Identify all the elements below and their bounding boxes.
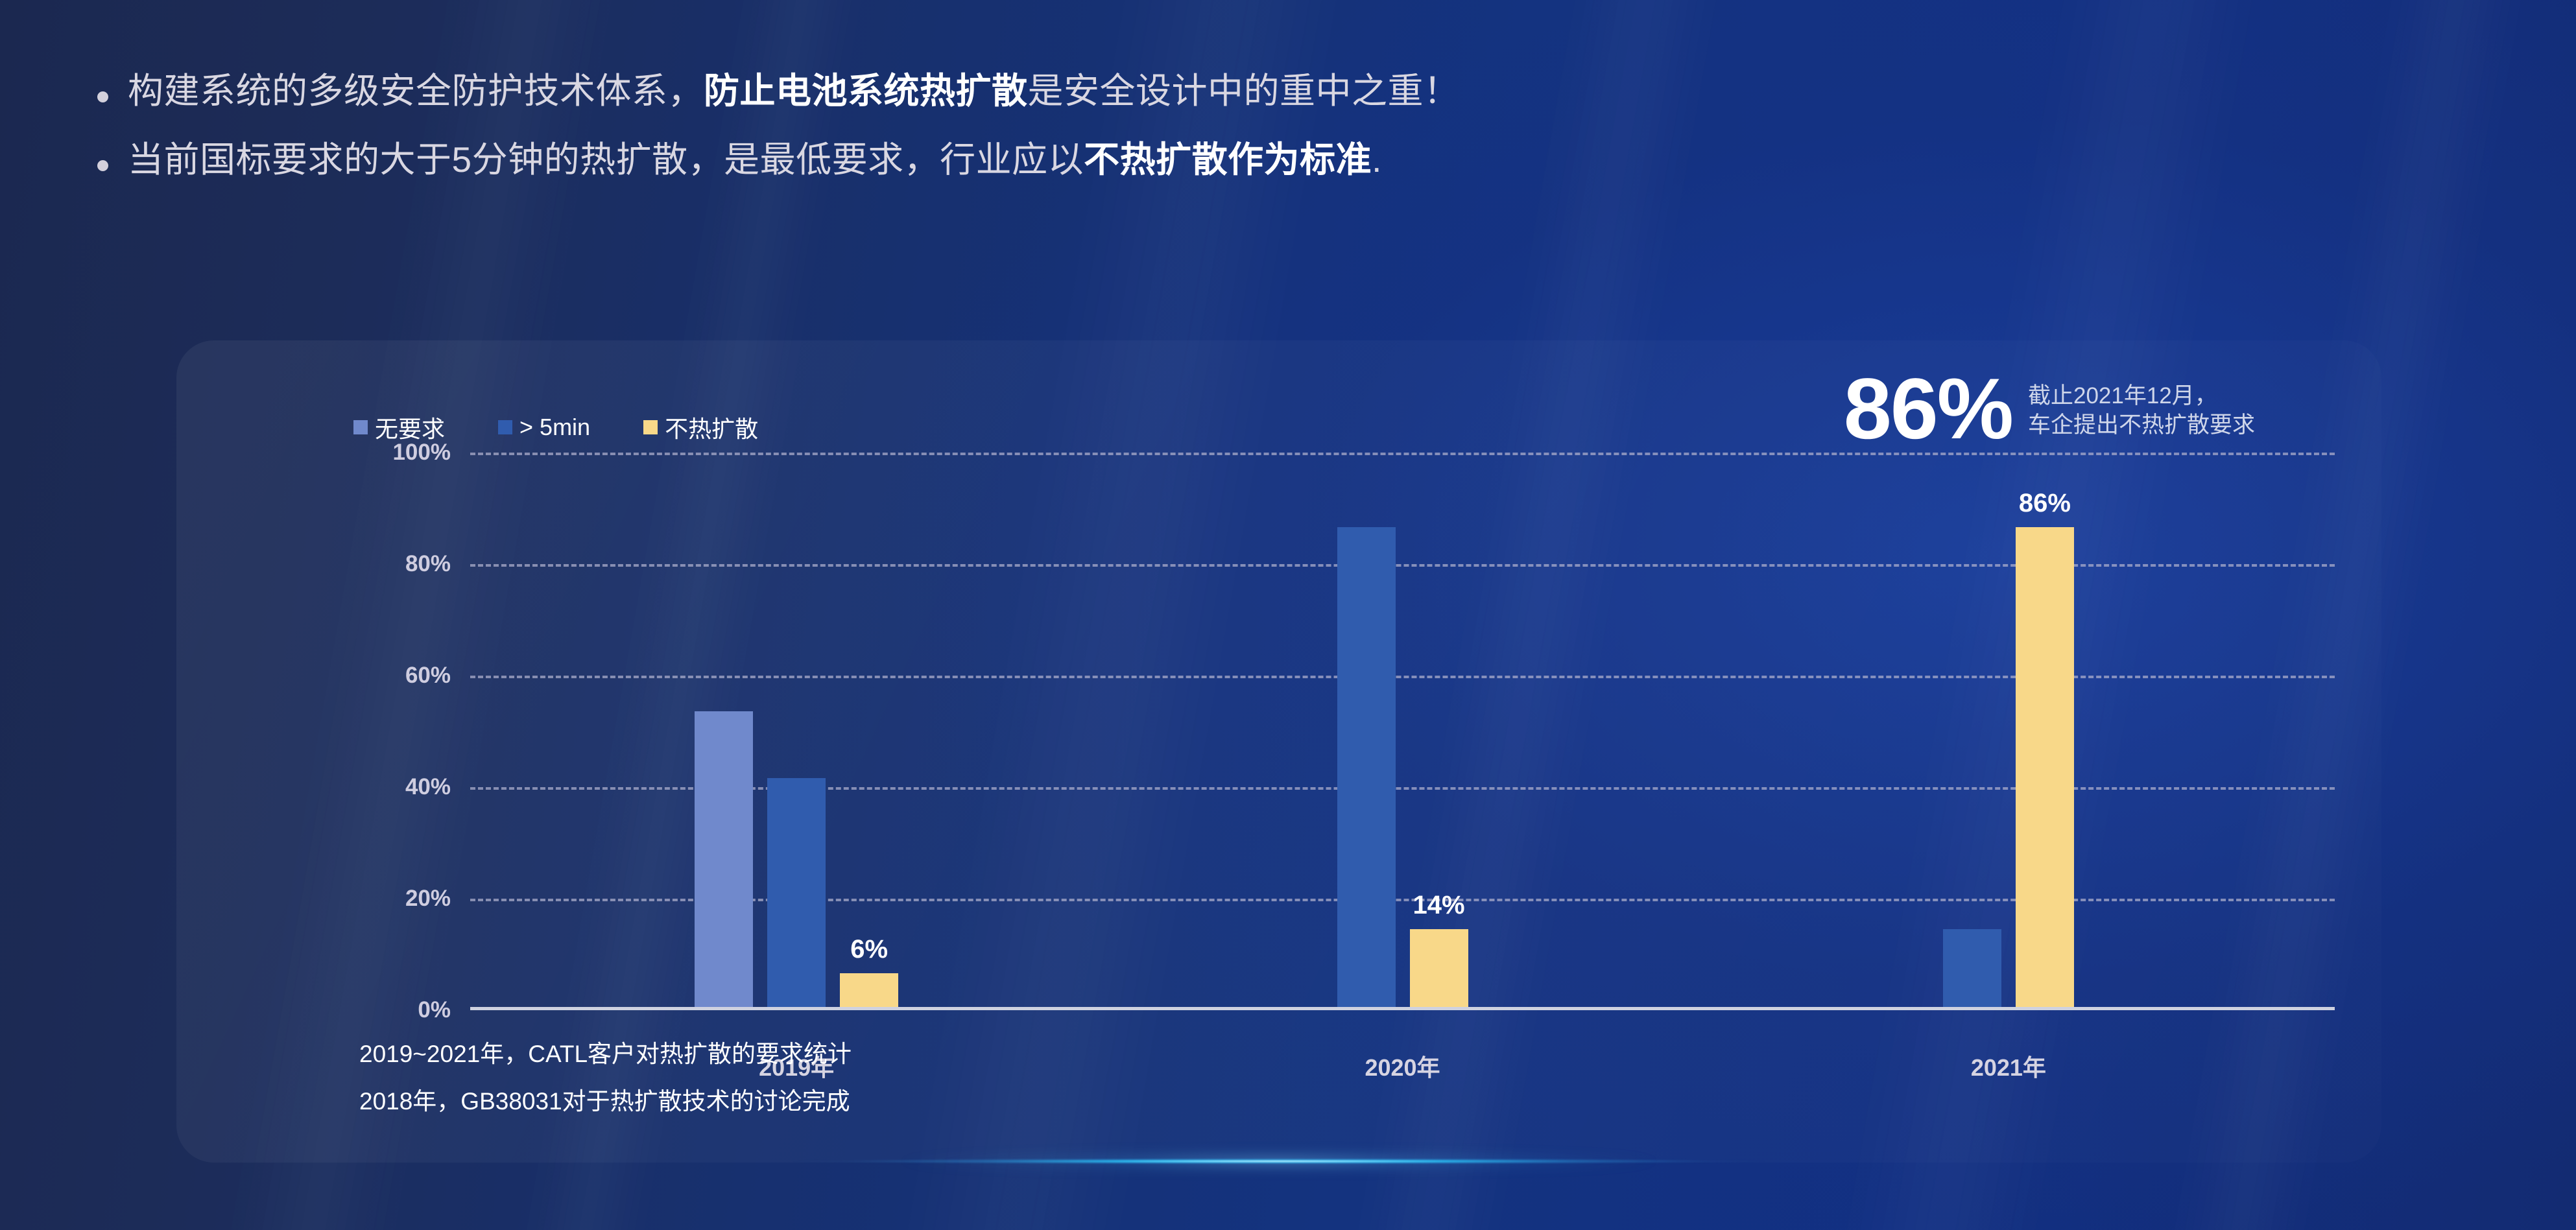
bar[interactable] bbox=[695, 711, 753, 1007]
bullet-text-emphasis: 不热扩散作为标准 bbox=[1084, 139, 1372, 180]
bar[interactable] bbox=[767, 778, 826, 1007]
bar[interactable]: 6% bbox=[840, 973, 898, 1007]
y-axis-tick-label: 80% bbox=[405, 551, 451, 577]
y-axis-tick-label: 100% bbox=[392, 440, 451, 466]
legend-item-gt-5min[interactable]: > 5min bbox=[498, 414, 590, 441]
y-axis-tick-label: 40% bbox=[405, 774, 451, 800]
y-axis-tick-label: 20% bbox=[405, 886, 451, 912]
bar-fill bbox=[695, 711, 753, 1007]
x-axis-tick-label: 2021年 bbox=[1971, 1049, 2046, 1083]
y-axis-tick-label: 60% bbox=[405, 663, 451, 689]
slide: 构建系统的多级安全防护技术体系，防止电池系统热扩散是安全设计中的重中之重！ 当前… bbox=[0, 0, 2576, 1230]
bullet-text: 构建系统的多级安全防护技术体系，防止电池系统热扩散是安全设计中的重中之重！ bbox=[128, 68, 1460, 113]
legend-swatch-icon bbox=[353, 420, 368, 434]
bar-fill bbox=[2016, 527, 2074, 1007]
y-axis-labels: 0%20%40%60%80%100% bbox=[337, 453, 451, 1010]
bar[interactable] bbox=[1337, 527, 1396, 1007]
bar-chart: 0%20%40%60%80%100% 6%14%86% 2019年2020年20… bbox=[337, 453, 2335, 1010]
bullet-text: 当前国标要求的大于5分钟的热扩散，是最低要求，行业应以不热扩散作为标准. bbox=[128, 137, 1382, 182]
bar-value-label: 14% bbox=[1413, 891, 1464, 920]
callout-description: 截止2021年12月， 车企提出不热扩散要求 bbox=[2028, 382, 2255, 440]
bullet-text-emphasis: 防止电池系统热扩散 bbox=[704, 71, 1028, 111]
legend-label: 不热扩散 bbox=[665, 410, 758, 444]
bullet-text-post: 是安全设计中的重中之重！ bbox=[1028, 71, 1460, 111]
bar-fill bbox=[767, 778, 826, 1007]
chart-card: 无要求 > 5min 不热扩散 86% 截止2021年12月， 车企提出不热扩散… bbox=[176, 340, 2381, 1163]
bar-value-label: 6% bbox=[850, 935, 888, 964]
bar-value-label: 86% bbox=[2019, 489, 2071, 518]
bar-fill bbox=[1943, 929, 2001, 1007]
bullet-item: 构建系统的多级安全防护技术体系，防止电池系统热扩散是安全设计中的重中之重！ bbox=[97, 68, 2237, 113]
bar-group-container: 6%14%86% bbox=[470, 453, 2335, 1007]
accent-glow-line bbox=[176, 1159, 2381, 1164]
footnote: 2019~2021年，CATL客户对热扩散的要求统计 bbox=[359, 1042, 852, 1066]
callout-stat: 86% 截止2021年12月， 车企提出不热扩散要求 bbox=[1844, 370, 2255, 449]
bar-fill bbox=[1410, 929, 1468, 1007]
footnote: 2018年，GB38031对于热扩散技术的讨论完成 bbox=[359, 1089, 852, 1113]
legend-label: > 5min bbox=[519, 414, 590, 441]
bar-fill bbox=[1337, 527, 1396, 1007]
bullet-dot-icon bbox=[97, 91, 108, 102]
y-axis-tick-label: 0% bbox=[418, 997, 451, 1023]
bullet-text-pre: 构建系统的多级安全防护技术体系， bbox=[128, 71, 704, 111]
bar[interactable]: 14% bbox=[1410, 929, 1468, 1007]
legend-swatch-icon bbox=[498, 420, 512, 434]
x-axis-line bbox=[470, 1007, 2335, 1010]
callout-description-line2: 车企提出不热扩散要求 bbox=[2028, 411, 2255, 440]
legend-swatch-icon bbox=[643, 420, 658, 434]
legend-item-no-propagation[interactable]: 不热扩散 bbox=[643, 410, 758, 444]
bullet-list: 构建系统的多级安全防护技术体系，防止电池系统热扩散是安全设计中的重中之重！ 当前… bbox=[97, 68, 2237, 206]
footnote-list: 2019~2021年，CATL客户对热扩散的要求统计 2018年，GB38031… bbox=[359, 1042, 852, 1137]
plot-area: 6%14%86% bbox=[470, 453, 2335, 1010]
bar[interactable]: 86% bbox=[2016, 527, 2074, 1007]
callout-description-line1: 截止2021年12月， bbox=[2028, 382, 2255, 411]
bullet-text-pre: 当前国标要求的大于5分钟的热扩散，是最低要求，行业应以 bbox=[128, 139, 1084, 180]
callout-value: 86% bbox=[1844, 370, 2012, 449]
bar[interactable] bbox=[1943, 929, 2001, 1007]
bar-fill bbox=[840, 973, 898, 1007]
bullet-dot-icon bbox=[97, 160, 108, 171]
bullet-text-post: . bbox=[1372, 139, 1382, 180]
bullet-item: 当前国标要求的大于5分钟的热扩散，是最低要求，行业应以不热扩散作为标准. bbox=[97, 137, 2237, 182]
x-axis-tick-label: 2020年 bbox=[1365, 1049, 1440, 1083]
